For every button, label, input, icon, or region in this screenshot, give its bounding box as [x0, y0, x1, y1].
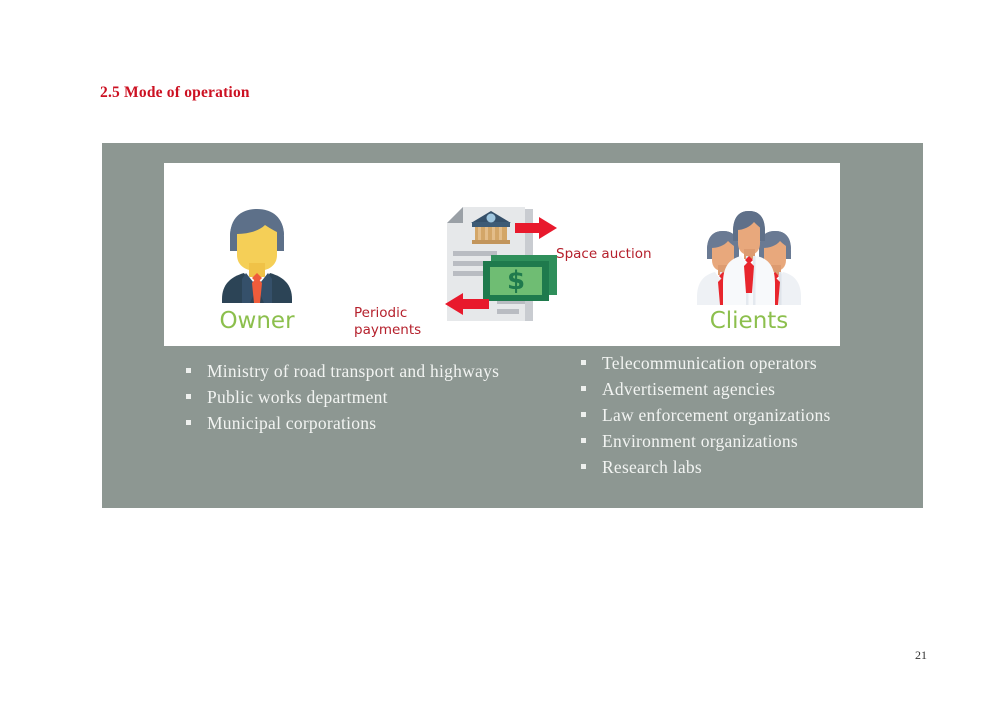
bullet-square-icon	[186, 420, 191, 425]
flow-caption-line-2: payments	[354, 322, 436, 339]
list-item: Environment organizations	[577, 429, 907, 453]
group-of-clients-icon	[697, 209, 801, 305]
list-item: Ministry of road transport and highways	[182, 359, 502, 383]
diagram-panel: Owner	[164, 163, 840, 346]
list-item: Public works department	[182, 385, 502, 409]
owner-group: Owner	[192, 207, 322, 342]
svg-text:$: $	[507, 266, 525, 296]
flow-caption-space-auction: Space auction	[556, 246, 652, 263]
flow-caption-line-1: Periodic	[354, 305, 436, 322]
list-item-label: Municipal corporations	[207, 413, 376, 433]
client-entities-list: Telecommunication operators Advertisemen…	[577, 351, 907, 481]
bullet-square-icon	[581, 360, 586, 365]
slide-content-box: Owner	[102, 143, 923, 508]
bullet-square-icon	[581, 412, 586, 417]
clients-group: Clients	[679, 209, 819, 344]
page-number: 21	[915, 648, 927, 663]
list-item: Law enforcement organizations	[577, 403, 907, 427]
bullet-square-icon	[581, 438, 586, 443]
list-item-label: Environment organizations	[602, 431, 798, 451]
list-item: Telecommunication operators	[577, 351, 907, 375]
list-item: Research labs	[577, 455, 907, 479]
list-item-label: Ministry of road transport and highways	[207, 361, 499, 381]
businessman-avatar-icon	[218, 207, 296, 305]
bullet-square-icon	[581, 386, 586, 391]
dollar-bills-icon: $	[483, 255, 557, 301]
owner-label: Owner	[192, 305, 322, 337]
list-item: Municipal corporations	[182, 411, 502, 435]
list-item-label: Advertisement agencies	[602, 379, 775, 399]
flow-caption-periodic-payments: Periodic payments	[354, 305, 436, 339]
list-item: Advertisement agencies	[577, 377, 907, 401]
contract-document-with-money-icon: $	[439, 203, 567, 333]
bullet-square-icon	[186, 394, 191, 399]
list-item-label: Law enforcement organizations	[602, 405, 831, 425]
list-item-label: Telecommunication operators	[602, 353, 817, 373]
bullet-square-icon	[186, 368, 191, 373]
clients-label: Clients	[679, 305, 819, 337]
page-title: 2.5 Mode of operation	[100, 84, 250, 102]
bullet-square-icon	[581, 464, 586, 469]
list-item-label: Research labs	[602, 457, 702, 477]
owner-entities-list: Ministry of road transport and highways …	[182, 359, 502, 437]
list-item-label: Public works department	[207, 387, 388, 407]
